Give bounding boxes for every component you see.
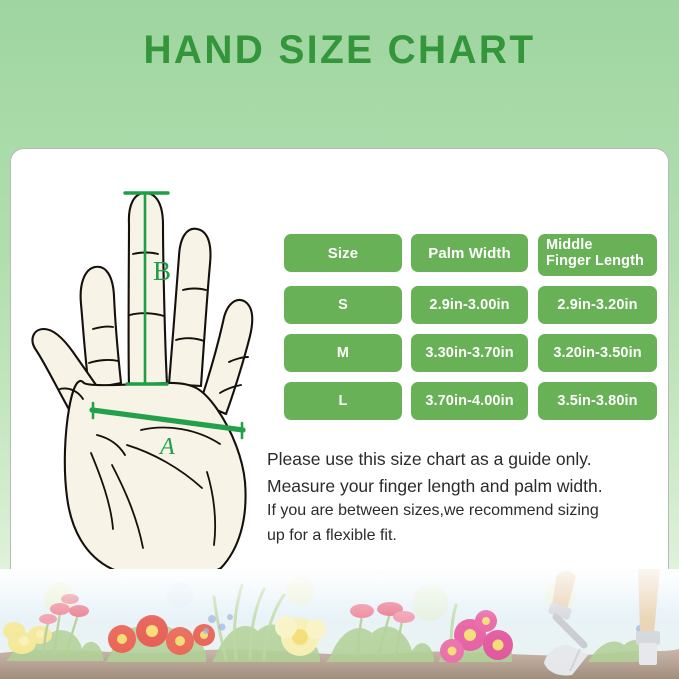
palm-width-label: A xyxy=(158,434,175,460)
hand-diagram: B A xyxy=(17,177,285,582)
cell-finger-length-s: 2.9in-3.20in xyxy=(538,286,657,324)
note-line-3: If you are between sizes,we recommend si… xyxy=(267,499,663,523)
header-cell-size: Size xyxy=(284,234,402,272)
note-line-4: up for a flexible fit. xyxy=(267,524,663,548)
content-card: B A Size Palm Width Middle Finger Len xyxy=(10,148,669,585)
cell-size-l: L xyxy=(284,382,402,420)
table-row: S 2.9in-3.00in 2.9in-3.20in xyxy=(284,286,659,324)
cell-palm-width-s: 2.9in-3.00in xyxy=(411,286,528,324)
cell-finger-length-m: 3.20in-3.50in xyxy=(538,334,657,372)
garden-photo-band xyxy=(0,569,679,679)
table-header-row: Size Palm Width Middle Finger Length xyxy=(284,234,659,276)
header-middle-line1: Middle xyxy=(546,238,657,254)
table-row: M 3.30in-3.70in 3.20in-3.50in xyxy=(284,334,659,372)
garden-photo-svg xyxy=(0,569,679,679)
finger-length-label: B xyxy=(153,256,171,286)
cell-palm-width-m: 3.30in-3.70in xyxy=(411,334,528,372)
cell-palm-width-l: 3.70in-4.00in xyxy=(411,382,528,420)
note-line-2: Measure your finger length and palm widt… xyxy=(267,473,663,500)
header-middle-line2: Finger Length xyxy=(546,254,657,270)
page-title: HAND SIZE CHART xyxy=(10,28,669,73)
note-line-1: Please use this size chart as a guide on… xyxy=(267,446,663,473)
cell-size-s: S xyxy=(284,286,402,324)
cell-finger-length-l: 3.5in-3.80in xyxy=(538,382,657,420)
hand-size-chart-poster: HAND SIZE CHART xyxy=(0,0,679,679)
header-cell-palm-width: Palm Width xyxy=(411,234,528,272)
guidance-notes: Please use this size chart as a guide on… xyxy=(267,446,663,548)
header-cell-middle-finger-length: Middle Finger Length xyxy=(538,234,657,276)
hand-illustration-svg: B A xyxy=(17,177,285,582)
size-table: Size Palm Width Middle Finger Length S 2… xyxy=(284,234,659,430)
cell-size-m: M xyxy=(284,334,402,372)
table-row: L 3.70in-4.00in 3.5in-3.80in xyxy=(284,382,659,420)
